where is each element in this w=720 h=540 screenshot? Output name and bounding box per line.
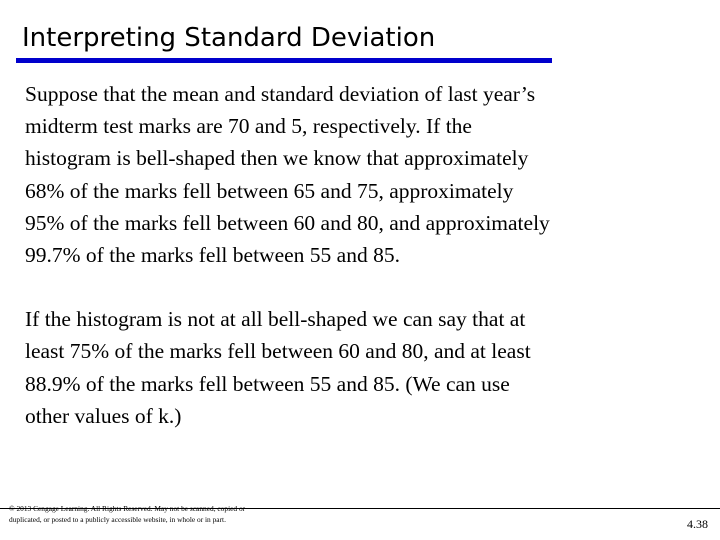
page-number: 4.38: [687, 517, 708, 531]
paragraph-line: Suppose that the mean and standard devia…: [25, 78, 711, 110]
body-content: Suppose that the mean and standard devia…: [25, 78, 711, 432]
paragraph-line: midterm test marks are 70 and 5, respect…: [25, 110, 711, 142]
paragraph-spacer: [25, 271, 711, 303]
paragraph-line: histogram is bell-shaped then we know th…: [25, 142, 711, 174]
paragraph-line: 95% of the marks fell between 60 and 80,…: [25, 207, 711, 239]
paragraph-line: 88.9% of the marks fell between 55 and 8…: [25, 368, 711, 400]
paragraph-line: least 75% of the marks fell between 60 a…: [25, 335, 711, 367]
paragraph-line: other values of k.): [25, 400, 711, 432]
copyright-line: © 2013 Cengage Learning. All Rights Rese…: [9, 503, 429, 514]
paragraph-line: If the histogram is not at all bell-shap…: [25, 303, 711, 335]
slide-canvas: Interpreting Standard Deviation Suppose …: [0, 0, 720, 540]
title-block: Interpreting Standard Deviation: [0, 22, 720, 54]
paragraph-chebysheff: If the histogram is not at all bell-shap…: [25, 303, 711, 432]
copyright-notice: © 2013 Cengage Learning. All Rights Rese…: [9, 503, 429, 525]
page-title: Interpreting Standard Deviation: [0, 22, 720, 54]
paragraph-line: 68% of the marks fell between 65 and 75,…: [25, 175, 711, 207]
copyright-line: duplicated, or posted to a publicly acce…: [9, 514, 429, 525]
paragraph-line: 99.7% of the marks fell between 55 and 8…: [25, 239, 711, 271]
paragraph-empirical-rule: Suppose that the mean and standard devia…: [25, 78, 711, 271]
title-underline-rule: [16, 58, 552, 63]
